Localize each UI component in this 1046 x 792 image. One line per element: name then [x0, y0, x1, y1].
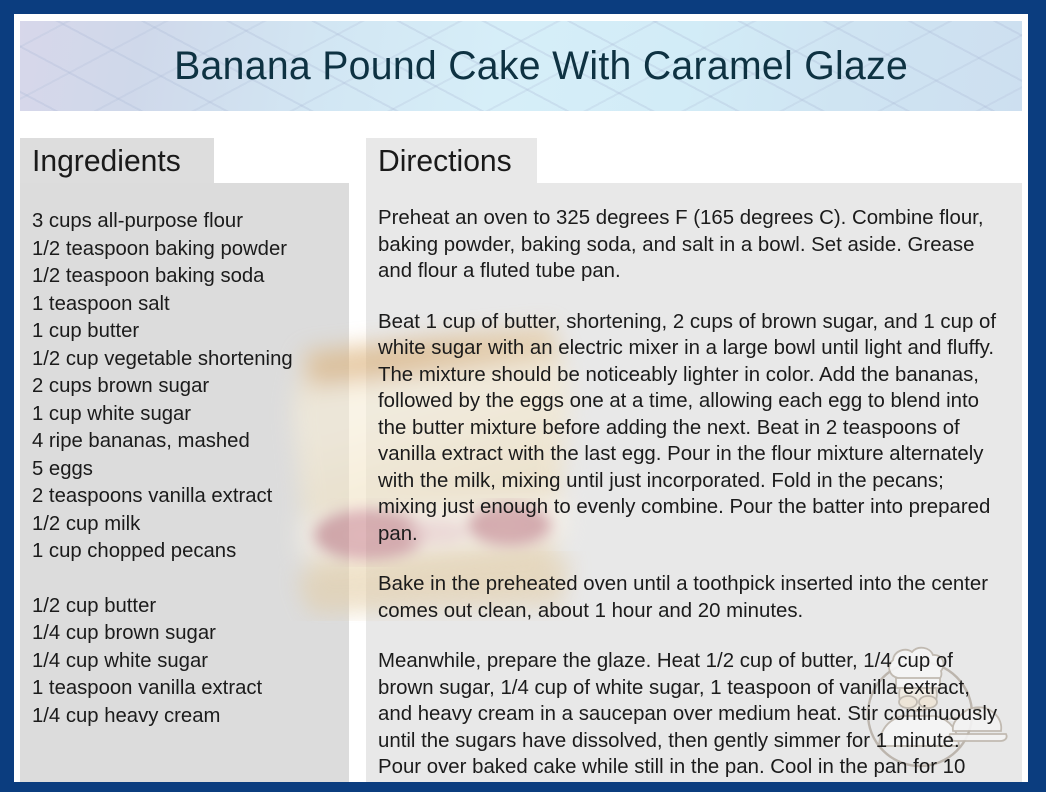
ingredient-item: 1 teaspoon vanilla extract	[32, 674, 336, 702]
recipe-card: Banana Pound Cake With Caramel Glaze Ing…	[0, 0, 1046, 792]
direction-paragraph: Meanwhile, prepare the glaze. Heat 1/2 c…	[378, 648, 1005, 782]
ingredient-item: 1/2 cup vegetable shortening	[32, 345, 336, 373]
ingredient-item: 1/4 cup brown sugar	[32, 619, 336, 647]
tab-ingredients-label: Ingredients	[32, 143, 181, 179]
page-title: Banana Pound Cake With Caramel Glaze	[134, 44, 907, 89]
title-banner: Banana Pound Cake With Caramel Glaze	[20, 21, 1022, 111]
ingredient-item: 1 cup white sugar	[32, 400, 336, 428]
tab-directions[interactable]: Directions	[366, 138, 537, 183]
ingredient-item: 4 ripe bananas, mashed	[32, 427, 336, 455]
ingredient-item: 1/4 cup white sugar	[32, 647, 336, 675]
ingredient-item: 3 cups all-purpose flour	[32, 207, 336, 235]
directions-panel: Preheat an oven to 325 degrees F (165 de…	[366, 183, 1022, 782]
direction-paragraph: Beat 1 cup of butter, shortening, 2 cups…	[378, 309, 1005, 548]
ingredient-item: 5 eggs	[32, 455, 336, 483]
ingredients-list-cake: 3 cups all-purpose flour1/2 teaspoon bak…	[32, 207, 339, 565]
tab-directions-label: Directions	[378, 143, 512, 179]
ingredient-item: 2 teaspoons vanilla extract	[32, 482, 336, 510]
ingredients-panel: 3 cups all-purpose flour1/2 teaspoon bak…	[20, 183, 349, 782]
ingredient-item: 1/2 teaspoon baking soda	[32, 262, 336, 290]
ingredient-item: 1 teaspoon salt	[32, 290, 336, 318]
ingredient-item: 1/4 cup heavy cream	[32, 702, 336, 730]
tab-ingredients[interactable]: Ingredients	[20, 138, 214, 183]
directions-paragraphs: Preheat an oven to 325 degrees F (165 de…	[378, 205, 1008, 782]
ingredient-item: 1/2 cup milk	[32, 510, 336, 538]
direction-paragraph: Preheat an oven to 325 degrees F (165 de…	[378, 205, 1005, 285]
recipe-card-inner: Banana Pound Cake With Caramel Glaze Ing…	[14, 14, 1028, 782]
ingredient-item: 2 cups brown sugar	[32, 372, 336, 400]
ingredient-item: 1/2 teaspoon baking powder	[32, 235, 336, 263]
ingredients-group-spacer	[32, 565, 339, 592]
ingredient-item: 1/2 cup butter	[32, 592, 336, 620]
ingredients-list-glaze: 1/2 cup butter1/4 cup brown sugar1/4 cup…	[32, 592, 339, 730]
ingredient-item: 1 cup butter	[32, 317, 336, 345]
ingredient-item: 1 cup chopped pecans	[32, 537, 336, 565]
direction-paragraph: Bake in the preheated oven until a tooth…	[378, 571, 1005, 624]
